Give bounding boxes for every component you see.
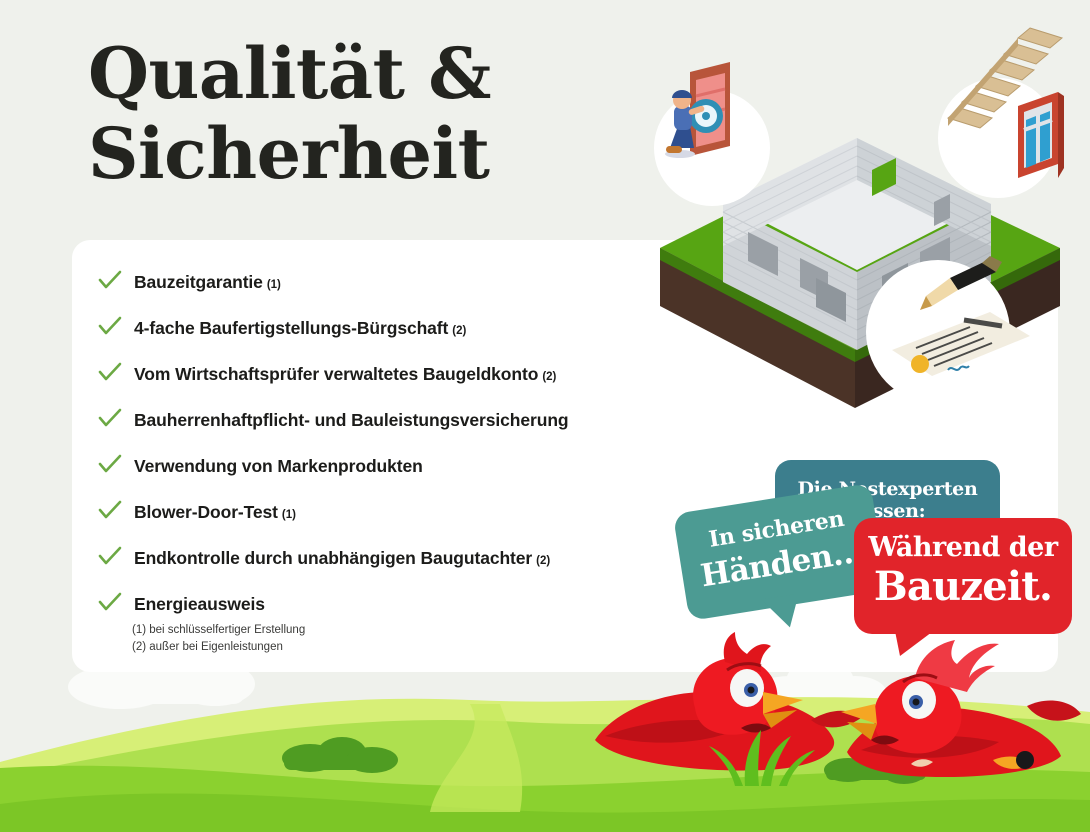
check-icon xyxy=(98,270,134,290)
page-title: Qualität & Sicherheit xyxy=(88,34,491,194)
blower-door-test-badge xyxy=(654,62,770,206)
bubble-red-line1: Während der xyxy=(854,518,1072,561)
checklist-item: Endkontrolle durch unabhängigen Baugutac… xyxy=(98,544,718,590)
checklist-item-label: Bauherrenhaftpflicht- und Bauleistungsve… xyxy=(134,410,569,431)
window-icon xyxy=(1018,92,1064,178)
checklist-item: 4-fache Baufertigstellungs-Bürgschaft (2… xyxy=(98,314,718,360)
checklist-item-footnote-ref: (2) xyxy=(542,371,556,383)
footnote-1: (1) bei schlüsselfertiger Erstellung xyxy=(132,622,305,639)
checklist: Bauzeitgarantie (1) 4-fache Baufertigste… xyxy=(98,268,718,636)
check-icon xyxy=(98,316,134,336)
checklist-item-label: Verwendung von Markenprodukten xyxy=(134,456,423,477)
checklist-item-footnote-ref: (1) xyxy=(282,509,296,521)
check-icon xyxy=(98,546,134,566)
checklist-item: Vom Wirtschaftsprüfer verwaltetes Baugel… xyxy=(98,360,718,406)
check-icon xyxy=(98,408,134,428)
checklist-item-label: Vom Wirtschaftsprüfer verwaltetes Baugel… xyxy=(134,364,538,385)
checklist-item-footnote-ref: (1) xyxy=(267,279,281,291)
checklist-item: Blower-Door-Test (1) xyxy=(98,498,718,544)
checklist-item: Bauzeitgarantie (1) xyxy=(98,268,718,314)
check-icon xyxy=(98,592,134,612)
stairs-and-window-badge xyxy=(938,28,1064,198)
bird-characters xyxy=(575,600,1090,790)
check-icon xyxy=(98,362,134,382)
check-icon xyxy=(98,454,134,474)
footnotes: (1) bei schlüsselfertiger Erstellung (2)… xyxy=(132,622,305,656)
checklist-item-footnote-ref: (2) xyxy=(452,325,466,337)
bird-right xyxy=(841,640,1081,777)
checklist-item-label: Endkontrolle durch unabhängigen Baugutac… xyxy=(134,548,532,569)
checklist-item: Bauherrenhaftpflicht- und Bauleistungsve… xyxy=(98,406,718,452)
checklist-item-label: Energieausweis xyxy=(134,594,265,615)
blower-fan-icon xyxy=(689,99,723,133)
checklist-item-label: 4-fache Baufertigstellungs-Bürgschaft xyxy=(134,318,448,339)
bird-left xyxy=(595,632,861,770)
check-icon xyxy=(98,500,134,520)
checklist-item-footnote-ref: (2) xyxy=(536,555,550,567)
checklist-item: Verwendung von Markenprodukten xyxy=(98,452,718,498)
checklist-item-label: Bauzeitgarantie xyxy=(134,272,263,293)
checklist-item-label: Blower-Door-Test xyxy=(134,502,278,523)
footnote-2: (2) außer bei Eigenleistungen xyxy=(132,639,305,656)
infographic-stage: Qualität & Sicherheit xyxy=(0,0,1090,832)
